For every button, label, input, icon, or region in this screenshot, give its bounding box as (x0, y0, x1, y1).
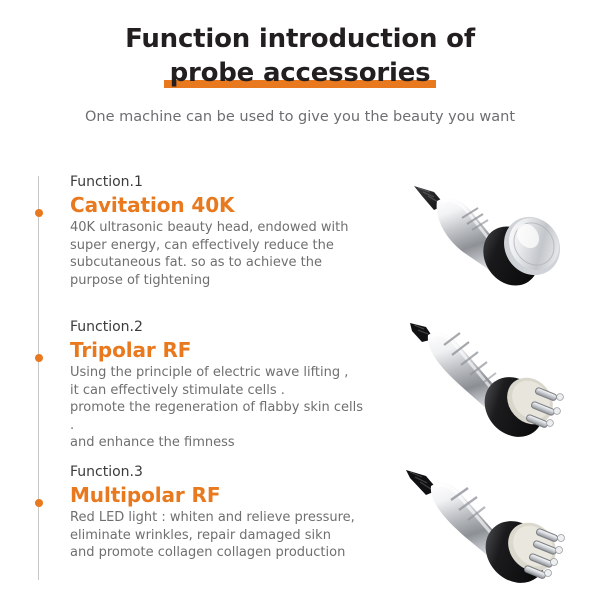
page-root: Function introduction of probe accessori… (0, 0, 600, 600)
timeline-dot-icon (35, 209, 43, 217)
product-image-card (404, 315, 588, 453)
function-label: Function.1 (70, 173, 370, 192)
function-blocks-list: Function.1 Cavitation 40K 40K ultrasonic… (0, 170, 600, 600)
cavitation-40k-probe-image (404, 170, 588, 308)
timeline-dot-icon (35, 499, 43, 507)
multipolar-rf-probe-image (404, 460, 588, 598)
page-subtitle: One machine can be used to give you the … (0, 107, 600, 127)
timeline-dot-icon (35, 354, 43, 362)
page-header: Function introduction of probe accessori… (0, 0, 600, 127)
function-block: Function.3 Multipolar RF Red LED light :… (0, 460, 600, 600)
page-title-line-2-text: probe accessories (170, 58, 431, 88)
page-title-line-2: probe accessories (170, 56, 431, 90)
function-text-column: Function.2 Tripolar RF Using the princip… (70, 318, 370, 452)
function-description: Using the principle of electric wave lif… (70, 364, 370, 452)
page-title-line-2-wrapper: probe accessories (0, 56, 600, 90)
function-description: 40K ultrasonic beauty head, endowed with… (70, 219, 370, 289)
function-label: Function.2 (70, 318, 370, 337)
product-image-card (404, 170, 588, 308)
function-block: Function.2 Tripolar RF Using the princip… (0, 315, 600, 460)
function-label: Function.3 (70, 463, 370, 482)
function-text-column: Function.1 Cavitation 40K 40K ultrasonic… (70, 173, 370, 289)
function-title: Cavitation 40K (70, 192, 370, 218)
page-title-line-1: Function introduction of (0, 22, 600, 56)
function-title: Tripolar RF (70, 337, 370, 363)
function-text-column: Function.3 Multipolar RF Red LED light :… (70, 463, 370, 562)
tripolar-rf-probe-image (404, 315, 588, 453)
product-image-card (404, 460, 588, 598)
function-block: Function.1 Cavitation 40K 40K ultrasonic… (0, 170, 600, 315)
function-description: Red LED light : whiten and relieve press… (70, 509, 370, 562)
function-title: Multipolar RF (70, 482, 370, 508)
